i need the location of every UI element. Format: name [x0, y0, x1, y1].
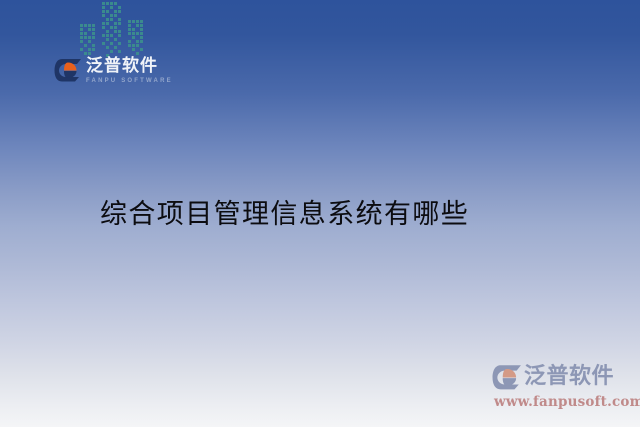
brand-name-cn: 泛普软件	[86, 57, 173, 76]
pixel-skyline-graphic	[76, 0, 148, 58]
brand-text: 泛普软件 FANPU SOFTWARE	[86, 57, 173, 86]
watermark-url: www.fanpusoft.com	[494, 394, 632, 410]
watermark: 泛普软件 www.fanpusoft.com	[492, 361, 632, 417]
fanpu-watermark-mark-icon	[492, 364, 522, 390]
brand-name-en: FANPU SOFTWARE	[86, 76, 173, 86]
brand-logo: 泛普软件 FANPU SOFTWARE	[54, 57, 174, 93]
fanpu-logo-mark-icon	[54, 58, 82, 82]
presentation-slide: 泛普软件 FANPU SOFTWARE 综合项目管理信息系统有哪些 泛普软件 w…	[0, 0, 640, 427]
watermark-logo-row: 泛普软件	[492, 361, 632, 393]
slide-headline: 综合项目管理信息系统有哪些	[100, 198, 469, 232]
watermark-name-cn: 泛普软件	[524, 364, 614, 390]
